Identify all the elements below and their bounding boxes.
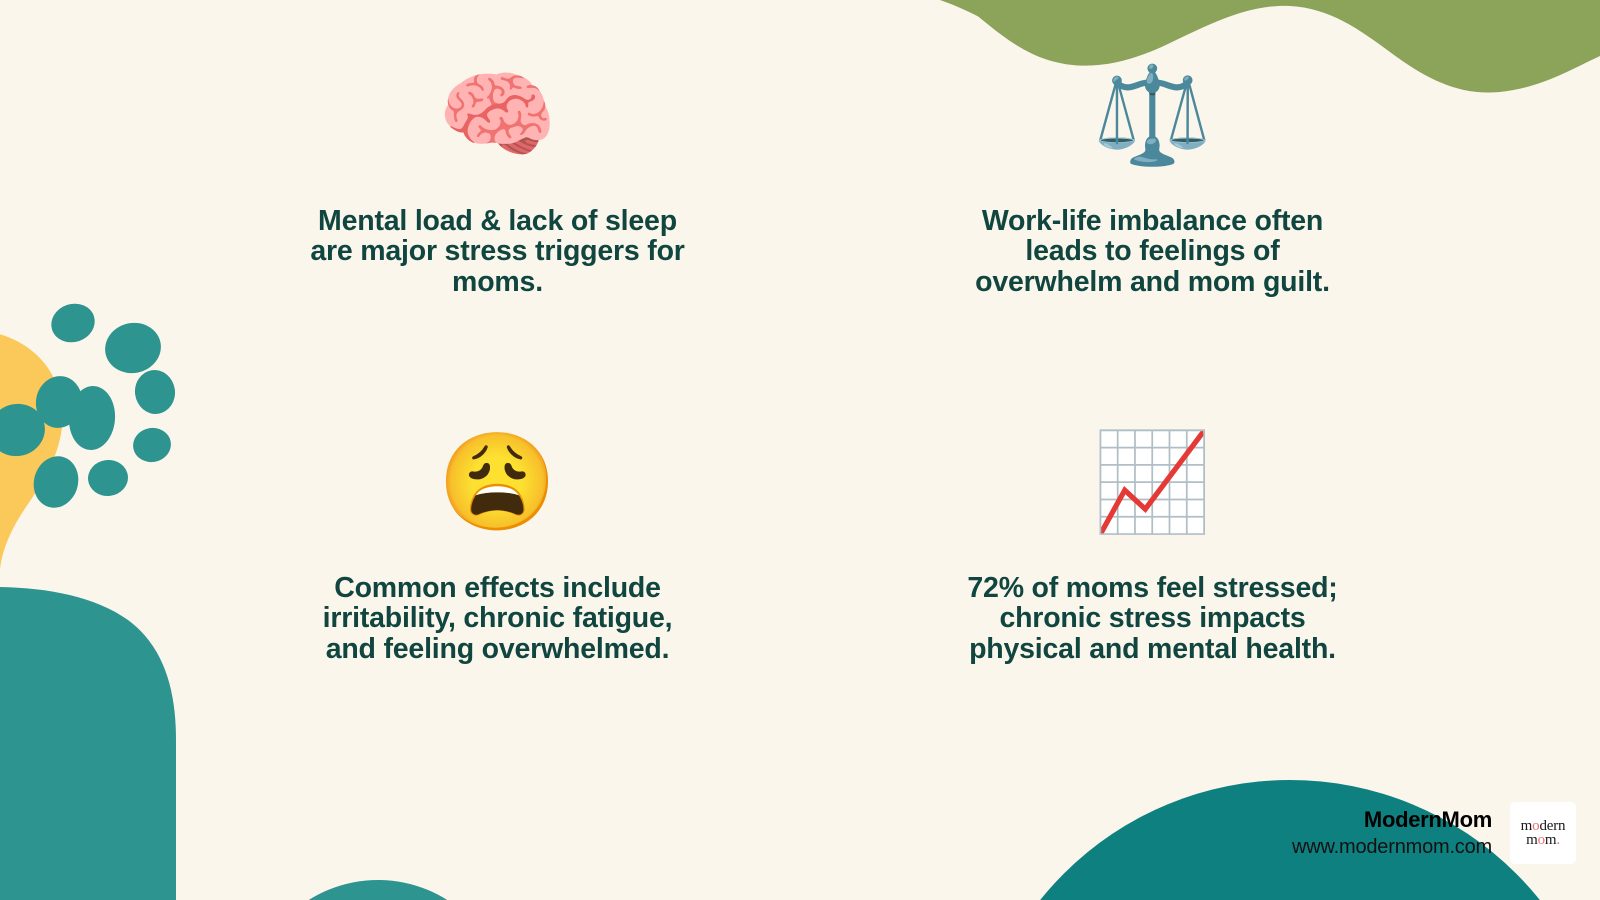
branding-footer: ModernMom www.modernmom.com modern mom. bbox=[1292, 802, 1576, 864]
logo-dot: . bbox=[1556, 832, 1560, 848]
brand-text-block: ModernMom www.modernmom.com bbox=[1292, 807, 1492, 858]
brand-url[interactable]: www.modernmom.com bbox=[1292, 836, 1492, 859]
card-work-life-imbalance: ⚖️ Work-life imbalance often leads to fe… bbox=[825, 60, 1480, 405]
card-common-effects: 😩 Common effects include irritability, c… bbox=[170, 405, 825, 750]
weary-face-emoji: 😩 bbox=[438, 427, 558, 539]
logo-mom-pre: m bbox=[1526, 832, 1537, 848]
logo-line-mom: mom. bbox=[1526, 833, 1560, 847]
card-caption-common-effects: Common effects include irritability, chr… bbox=[323, 573, 673, 664]
card-caption-stress-statistic: 72% of moms feel stressed; chronic stres… bbox=[967, 573, 1337, 664]
chart-increasing-emoji: 📈 bbox=[1093, 427, 1213, 539]
balance-scale-emoji: ⚖️ bbox=[1093, 60, 1213, 172]
logo-mom-post: m bbox=[1545, 832, 1556, 848]
card-caption-mental-load: Mental load & lack of sleep are major st… bbox=[310, 206, 684, 297]
infographic-canvas: 🧠 Mental load & lack of sleep are major … bbox=[0, 0, 1600, 900]
brain-emoji: 🧠 bbox=[438, 60, 558, 172]
modernmom-logo: modern mom. bbox=[1510, 802, 1576, 864]
card-stress-statistic: 📈 72% of moms feel stressed; chronic str… bbox=[825, 405, 1480, 750]
card-caption-work-life-imbalance: Work-life imbalance often leads to feeli… bbox=[975, 206, 1330, 297]
content-grid: 🧠 Mental load & lack of sleep are major … bbox=[0, 0, 1600, 900]
card-mental-load: 🧠 Mental load & lack of sleep are major … bbox=[170, 60, 825, 405]
logo-mom-highlight: o bbox=[1538, 832, 1545, 848]
logo-line-modern: modern bbox=[1521, 819, 1566, 833]
brand-name: ModernMom bbox=[1364, 807, 1492, 832]
